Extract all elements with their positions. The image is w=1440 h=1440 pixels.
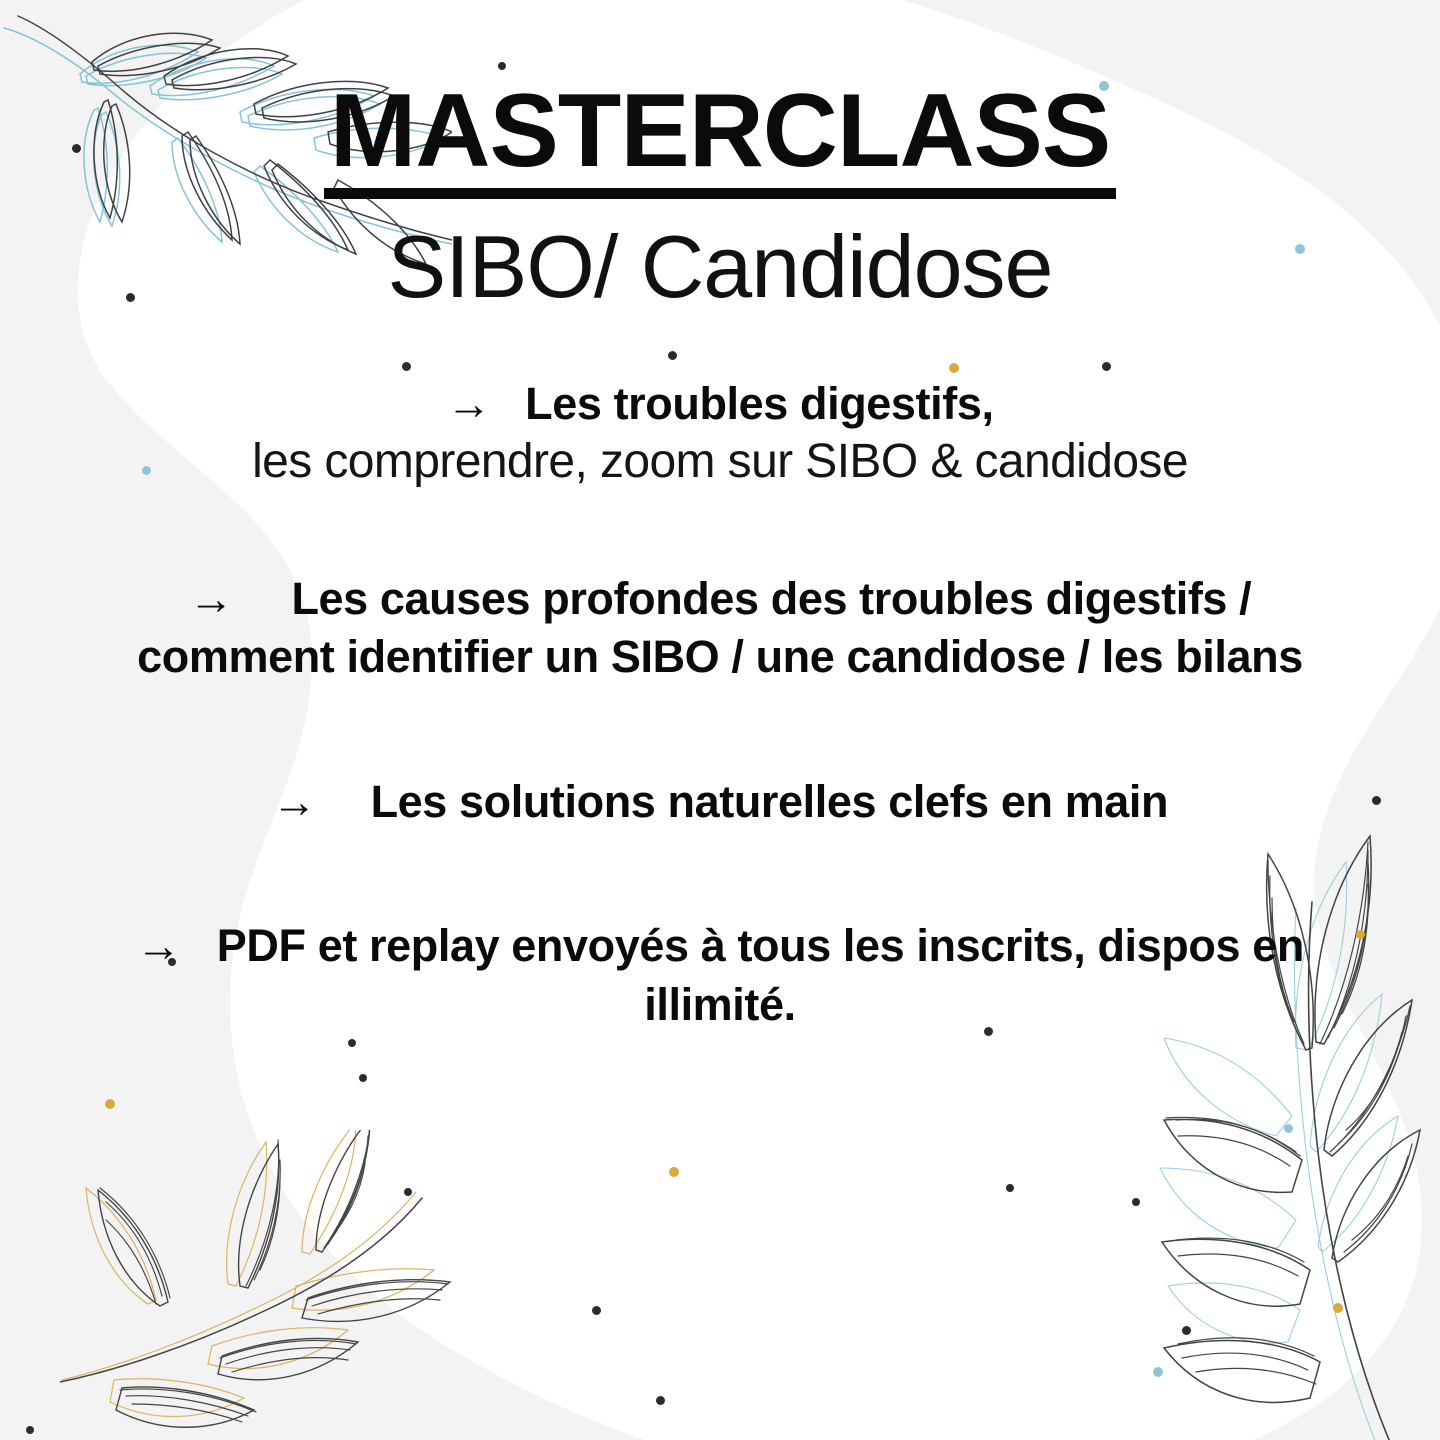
bullet-4-strong-text: PDF et replay envoyés à tous les inscrit…	[217, 920, 1304, 1030]
page-subtitle: SIBO/ Candidose	[70, 215, 1370, 319]
poster-content: MASTERCLASS SIBO/ Candidose → Les troubl…	[0, 0, 1440, 1440]
arrow-right-icon: →	[189, 570, 234, 629]
arrow-right-icon: →	[272, 773, 317, 832]
page-title: MASTERCLASS	[324, 78, 1117, 199]
arrow-right-icon: →	[446, 375, 491, 434]
bullet-1-strong: → Les troubles digestifs,	[70, 375, 1370, 434]
list-item: → Les solutions naturelles clefs en main	[70, 773, 1370, 832]
list-item: → PDF et replay envoyés à tous les inscr…	[70, 917, 1370, 1034]
bullet-3-strong: → Les solutions naturelles clefs en main	[70, 773, 1370, 832]
bullet-2-strong: → Les causes profondes des troubles dige…	[94, 570, 1346, 687]
bullet-1-strong-text: Les troubles digestifs,	[525, 378, 993, 429]
bullet-4-strong: → PDF et replay envoyés à tous les inscr…	[76, 917, 1364, 1034]
title-block: MASTERCLASS SIBO/ Candidose	[70, 78, 1370, 319]
arrow-right-icon: →	[136, 917, 181, 976]
bullet-list: → Les troubles digestifs, les comprendre…	[70, 357, 1370, 1035]
list-item: → Les causes profondes des troubles dige…	[70, 570, 1370, 687]
bullet-1-light-text: les comprendre, zoom sur SIBO & candidos…	[70, 433, 1370, 492]
bullet-3-strong-text: Les solutions naturelles clefs en main	[371, 776, 1169, 827]
poster-canvas: MASTERCLASS SIBO/ Candidose → Les troubl…	[0, 0, 1440, 1440]
list-item: → Les troubles digestifs, les comprendre…	[70, 375, 1370, 492]
bullet-2-strong-text: Les causes profondes des troubles digest…	[137, 573, 1303, 683]
